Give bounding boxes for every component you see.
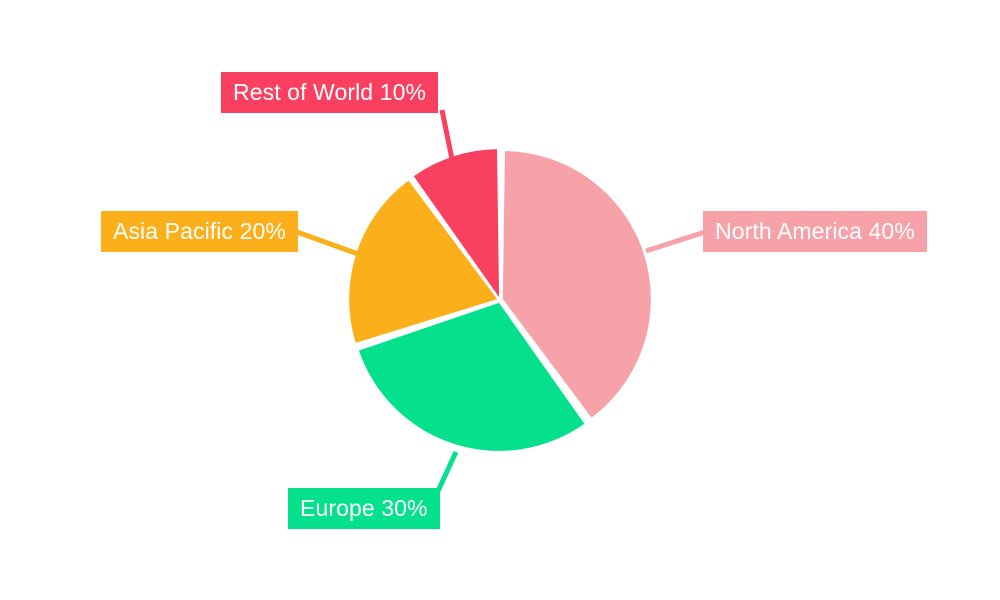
pie-chart-canvas — [0, 0, 1000, 600]
leader-line-north-america — [646, 232, 705, 251]
slice-label-rest-of-world: Rest of World 10% — [221, 72, 438, 113]
leader-line-asia-pacific — [297, 232, 358, 254]
leader-line-europe — [438, 452, 456, 491]
slice-label-europe: Europe 30% — [288, 488, 440, 529]
slice-label-rest-of-world-text: Rest of World 10% — [233, 81, 426, 104]
leader-line-rest-of-world — [442, 110, 453, 164]
slice-label-asia-pacific: Asia Pacific 20% — [101, 211, 298, 252]
slice-label-asia-pacific-text: Asia Pacific 20% — [113, 220, 286, 243]
pie-slice-group — [349, 149, 651, 451]
slice-label-north-america: North America 40% — [703, 211, 927, 252]
slice-label-europe-text: Europe 30% — [300, 497, 428, 520]
slice-label-north-america-text: North America 40% — [715, 220, 915, 243]
pie-chart: North America 40% Europe 30% Asia Pacifi… — [0, 0, 1000, 600]
